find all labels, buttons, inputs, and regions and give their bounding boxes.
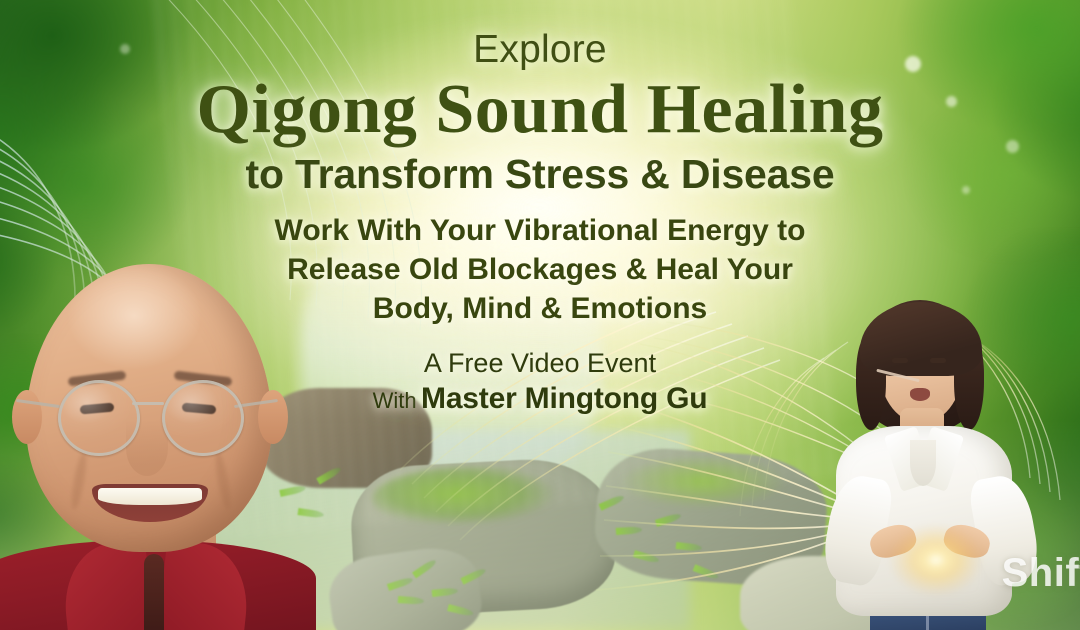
presenter-prefix: With (373, 388, 417, 413)
subheadline-line-2: Release Old Blockages & Heal Your (0, 250, 1080, 289)
presenter-line: With Master Mingtong Gu (0, 382, 1080, 416)
qi-energy-glow (876, 514, 996, 606)
headline-sub: to Transform Stress & Disease (0, 151, 1080, 198)
subheadline-line-3: Body, Mind & Emotions (0, 289, 1080, 328)
subheadline-line-1: Work With Your Vibrational Energy to (0, 211, 1080, 250)
shirt-collar-opening (144, 554, 164, 630)
headline-main: Qigong Sound Healing (0, 74, 1080, 147)
teeth (98, 488, 202, 505)
headline-block: Explore Qigong Sound Healing to Transfor… (0, 0, 1080, 416)
blouse-v-neck (910, 440, 936, 486)
shift-watermark: Shift (1002, 551, 1080, 596)
promotional-banner: Explore Qigong Sound Healing to Transfor… (0, 0, 1080, 630)
subheadline: Work With Your Vibrational Energy to Rel… (0, 211, 1080, 328)
presenter-name: Master Mingtong Gu (421, 382, 707, 415)
event-type: A Free Video Event (0, 348, 1080, 379)
headline-kicker: Explore (0, 28, 1080, 72)
